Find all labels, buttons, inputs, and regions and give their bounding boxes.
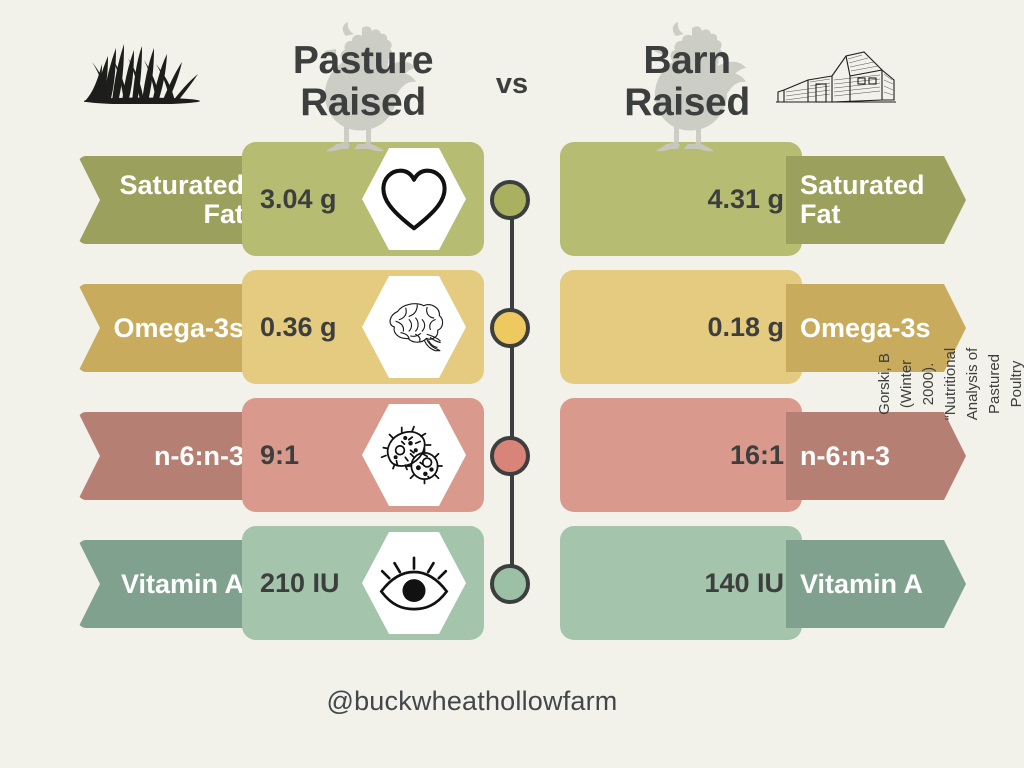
header: Pasture Raised vs [0,0,944,150]
social-handle: @buckwheathollowfarm [0,686,944,717]
table-row: Saturated Fat 3.04 g 4.31 g Saturated Fa… [0,142,944,256]
page-title-pasture: Pasture Raised [238,40,488,124]
row-label-left-n6-n3: n-6:n-3 [78,412,258,500]
value-text: 4.31 g [707,184,784,215]
title-line-1: Barn [562,40,812,82]
row-label-left-vitamin-a: Vitamin A [78,540,258,628]
timeline-node-saturated-fat [490,180,530,220]
vs-label: vs [470,68,554,101]
table-row: Vitamin A 210 IU [0,526,944,640]
citation: Gorski, B (Winter 2000). “Nutritional An… [944,0,1024,768]
value-text: 3.04 g [260,184,337,215]
timeline-node-n6-n3 [490,436,530,476]
timeline-node-vitamin-a [490,564,530,604]
row-value-right-saturated-fat: 4.31 g [560,142,802,256]
row-label-left-omega-3s: Omega-3s [78,284,258,372]
title-line-2: Raised [238,82,488,124]
value-text: 210 IU [260,568,340,599]
value-text: 0.18 g [707,312,784,343]
row-value-right-n6-n3: 16:1 [560,398,802,512]
row-value-right-omega-3s: 0.18 g [560,270,802,384]
row-label-right-saturated-fat: Saturated Fat [786,156,966,244]
row-label-left-saturated-fat: Saturated Fat [78,156,258,244]
infographic-canvas: Pasture Raised vs [0,0,1024,768]
row-value-right-vitamin-a: 140 IU [560,526,802,640]
center-timeline [490,180,534,612]
value-text: 16:1 [730,440,784,471]
row-label-right-n6-n3: n-6:n-3 [786,412,966,500]
timeline-node-omega-3s [490,308,530,348]
value-text: 0.36 g [260,312,337,343]
citation-text: Gorski, B (Winter 2000). “Nutritional An… [874,344,1024,424]
title-line-1: Pasture [238,40,488,82]
timeline-line [510,194,514,598]
page-title-barn: Barn Raised [562,40,812,124]
grass-silhouette-icon [80,42,210,104]
title-line-2: Raised [562,82,812,124]
value-text: 9:1 [260,440,299,471]
table-row: n-6:n-3 9:1 [0,398,944,512]
table-row: Omega-3s 0.36 g [0,270,944,384]
row-label-right-vitamin-a: Vitamin A [786,540,966,628]
comparison-rows: Saturated Fat 3.04 g 4.31 g Saturated Fa… [0,142,944,654]
value-text: 140 IU [704,568,784,599]
